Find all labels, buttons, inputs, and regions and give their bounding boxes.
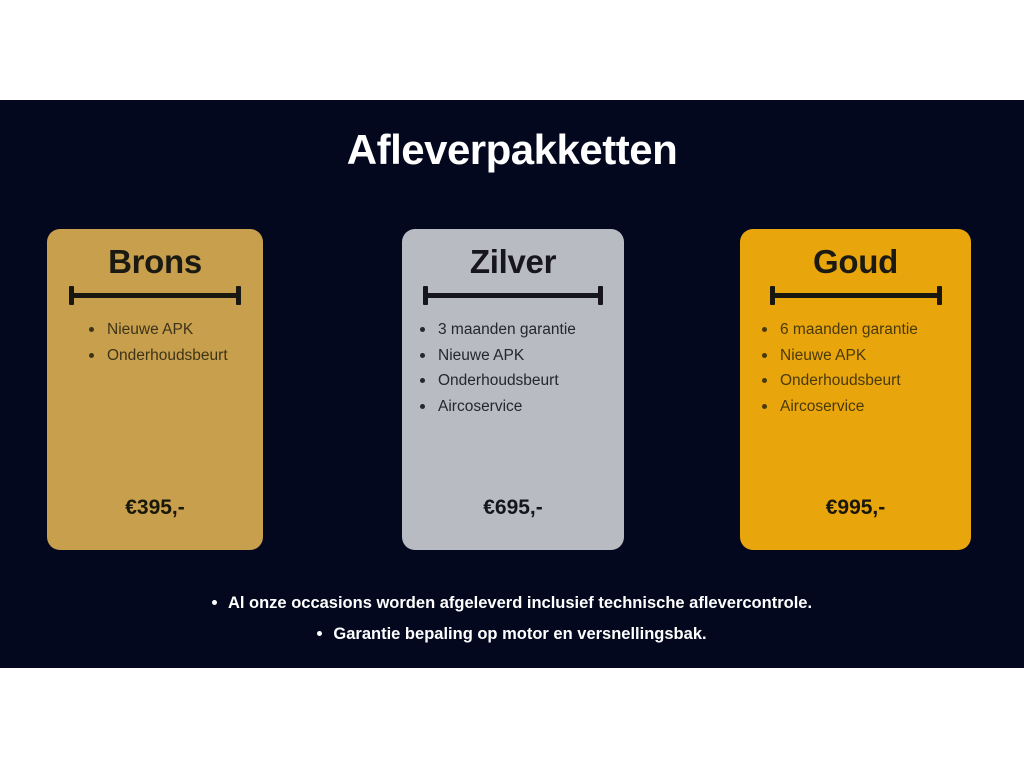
list-item: Nieuwe APK: [89, 317, 228, 343]
divider-cap-right-icon: [236, 286, 241, 305]
feature-label: Onderhoudsbeurt: [780, 372, 901, 389]
feature-label: Onderhoudsbeurt: [107, 347, 228, 364]
package-price-goud: €995,-: [740, 496, 971, 520]
feature-label: Nieuwe APK: [780, 347, 866, 364]
bullet-dot-icon: [420, 327, 425, 332]
bullet-dot-icon: [420, 404, 425, 409]
footer-note-label: Garantie bepaling op motor en versnellin…: [333, 625, 706, 643]
page-title: Afleverpakketten: [0, 128, 1024, 172]
feature-list-goud: 6 maanden garantie Nieuwe APK Onderhouds…: [762, 317, 918, 419]
bullet-dot-icon: [420, 353, 425, 358]
package-card-goud[interactable]: Goud 6 maanden garantie Nieuwe APK Onder…: [740, 229, 971, 550]
feature-label: Aircoservice: [780, 398, 864, 415]
list-item: Onderhoudsbeurt: [89, 343, 228, 369]
package-card-brons[interactable]: Brons Nieuwe APK Onderhoudsbeurt €395,-: [47, 229, 263, 550]
bullet-dot-icon: [762, 353, 767, 358]
package-card-zilver[interactable]: Zilver 3 maanden garantie Nieuwe APK Ond…: [402, 229, 624, 550]
package-name-goud: Goud: [740, 229, 971, 278]
divider-rule-goud: [770, 286, 942, 302]
divider-rule-brons: [69, 286, 241, 302]
divider-bar-icon: [69, 293, 241, 298]
list-item: 3 maanden garantie: [420, 317, 576, 343]
package-name-zilver: Zilver: [402, 229, 624, 278]
package-name-brons: Brons: [47, 229, 263, 278]
package-cards-row: Brons Nieuwe APK Onderhoudsbeurt €395,-: [0, 229, 1024, 550]
feature-list-zilver: 3 maanden garantie Nieuwe APK Onderhouds…: [420, 317, 576, 419]
feature-label: Onderhoudsbeurt: [438, 372, 559, 389]
slide-canvas: Afleverpakketten Brons Nieuwe APK Onderh…: [0, 0, 1024, 768]
list-item: Aircoservice: [762, 394, 918, 420]
feature-label: 3 maanden garantie: [438, 321, 576, 338]
footer-note-label: Al onze occasions worden afgeleverd incl…: [228, 594, 812, 612]
list-item: Aircoservice: [420, 394, 576, 420]
bullet-dot-icon: [89, 353, 94, 358]
bullet-dot-icon: [420, 378, 425, 383]
bullet-dot-icon: [762, 378, 767, 383]
feature-label: 6 maanden garantie: [780, 321, 918, 338]
feature-list-brons: Nieuwe APK Onderhoudsbeurt: [89, 317, 228, 368]
list-item: 6 maanden garantie: [762, 317, 918, 343]
list-item: Onderhoudsbeurt: [420, 368, 576, 394]
list-item: Onderhoudsbeurt: [762, 368, 918, 394]
list-item: Nieuwe APK: [420, 343, 576, 369]
package-price-zilver: €695,-: [402, 496, 624, 520]
footer-note-1: Al onze occasions worden afgeleverd incl…: [0, 588, 1024, 619]
divider-rule-zilver: [423, 286, 603, 302]
bullet-dot-icon: [762, 327, 767, 332]
bullet-dot-icon: [89, 327, 94, 332]
footer-notes: Al onze occasions worden afgeleverd incl…: [0, 588, 1024, 650]
feature-label: Nieuwe APK: [107, 321, 193, 338]
package-price-brons: €395,-: [47, 496, 263, 520]
feature-label: Aircoservice: [438, 398, 522, 415]
list-item: Nieuwe APK: [762, 343, 918, 369]
divider-bar-icon: [770, 293, 942, 298]
feature-label: Nieuwe APK: [438, 347, 524, 364]
bullet-dot-icon: [212, 600, 217, 605]
divider-bar-icon: [423, 293, 603, 298]
bullet-dot-icon: [317, 631, 322, 636]
bullet-dot-icon: [762, 404, 767, 409]
divider-cap-right-icon: [937, 286, 942, 305]
footer-note-2: Garantie bepaling op motor en versnellin…: [0, 619, 1024, 650]
divider-cap-right-icon: [598, 286, 603, 305]
